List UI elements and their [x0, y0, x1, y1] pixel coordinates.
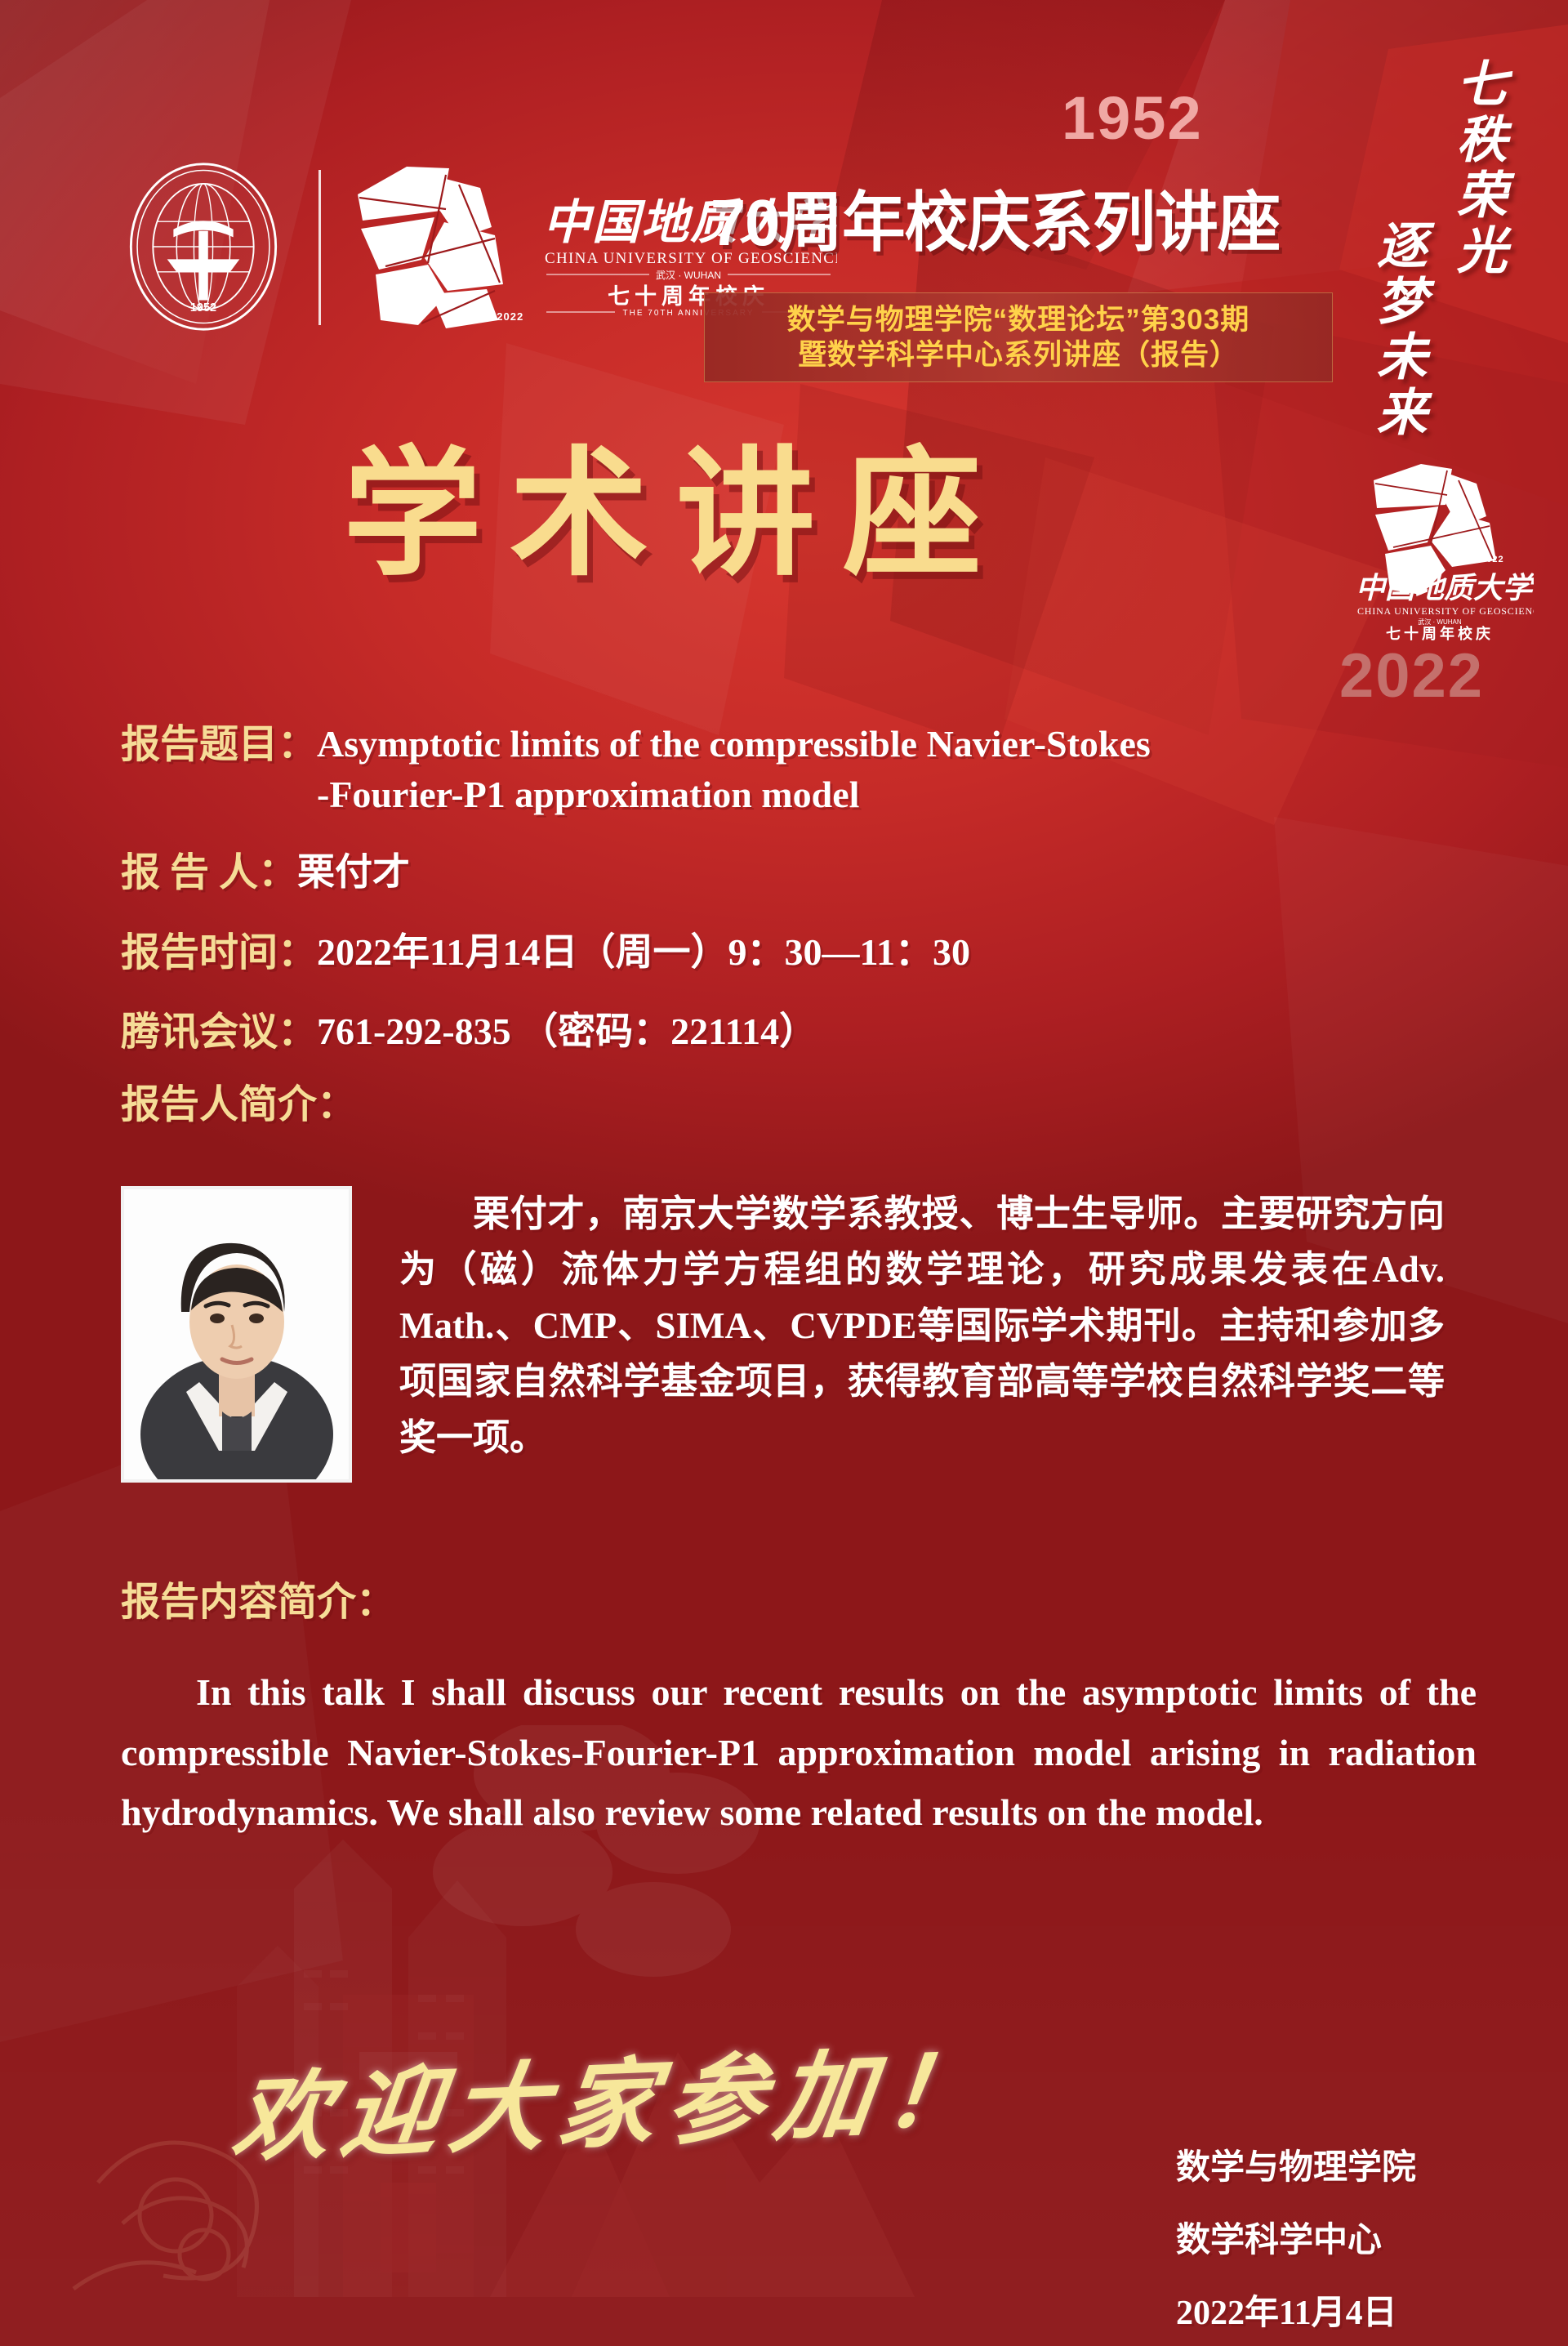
info-row-meeting: 腾讯会议： 761-292-835 （密码：221114） — [121, 1006, 1468, 1058]
year-current-label: 2022 — [1339, 645, 1484, 707]
info-row-title: 报告题目： Asymptotic limits of the compressi… — [121, 719, 1468, 819]
anniversary-origami-icon: 1952-2022 — [343, 160, 531, 333]
topic-value: Asymptotic limits of the compressible Na… — [317, 719, 1151, 819]
footer-line-3: 2022年11月4日 — [1176, 2277, 1416, 2346]
calligraphy-right-1: 七秩荣光 — [1447, 57, 1505, 279]
sub-banner: 数学与物理学院“数理论坛”第303期 暨数学科学中心系列讲座（报告） — [704, 292, 1333, 382]
spacer — [121, 906, 1468, 927]
page-title: 学术讲座 — [343, 445, 1009, 584]
wordmark-city-text: 武汉 · WUHAN — [656, 270, 721, 281]
sub-banner-line-1: 数学与物理学院“数理论坛”第303期 — [787, 302, 1249, 337]
svg-text:1952-2022: 1952-2022 — [465, 310, 523, 323]
svg-text:中国地质大学: 中国地质大学 — [1356, 572, 1534, 604]
meeting-value: 761-292-835 （密码：221114） — [317, 1006, 817, 1057]
topic-label: 报告题目： — [121, 719, 317, 770]
info-row-speaker: 报 告 人： 栗付才 — [121, 847, 1468, 899]
time-value: 2022年11月14日（周一）9：30—11：30 — [317, 927, 970, 978]
abstract-label: 报告内容简介： — [121, 1577, 395, 1628]
poster-footer: 数学与物理学院 数学科学中心 2022年11月4日 — [1176, 2132, 1416, 2346]
year-founded-label: 1952 — [1062, 88, 1203, 149]
anniversary-mini-mark-icon: 1952-2022 中国地质大学 CHINA UNIVERSITY OF GEO… — [1346, 457, 1534, 645]
speaker-photo — [121, 1186, 352, 1483]
speaker-bio-section: 栗付才，南京大学数学系教授、博士生导师。主要研究方向为（磁）流体力学方程组的数学… — [121, 1186, 1477, 1483]
topic-line-2: -Fourier-P1 approximation model — [317, 769, 1151, 820]
meeting-label: 腾讯会议： — [121, 1006, 317, 1058]
abstract-text: In this talk I shall discuss our recent … — [121, 1662, 1477, 1843]
series-title: 70周年校庆系列讲座 — [710, 190, 1280, 256]
footer-line-1: 数学与物理学院 — [1176, 2132, 1416, 2205]
calligraphy-right-2: 逐梦未来 — [1367, 219, 1425, 441]
speaker-bio-text: 栗付才，南京大学数学系教授、博士生导师。主要研究方向为（磁）流体力学方程组的数学… — [399, 1186, 1445, 1483]
spacer — [121, 826, 1468, 847]
info-row-bio-heading: 报告人简介： — [121, 1079, 1468, 1131]
time-label: 报告时间： — [121, 927, 317, 979]
crest-year: 1952 — [190, 301, 216, 314]
poster-header: 1952 1952-2022 — [0, 0, 1568, 425]
university-crest-icon: 1952 — [117, 160, 290, 333]
svg-text:CHINA UNIVERSITY OF GEOSCIENCE: CHINA UNIVERSITY OF GEOSCIENCES — [1357, 605, 1534, 617]
lecture-poster: 1952 1952-2022 — [0, 0, 1568, 2346]
speaker-label: 报 告 人： — [121, 847, 297, 899]
svg-text:武汉 · WUHAN: 武汉 · WUHAN — [1418, 618, 1462, 626]
svg-text:1952-2022: 1952-2022 — [1454, 555, 1504, 564]
lecture-info-block: 报告题目： Asymptotic limits of the compressi… — [121, 719, 1468, 1138]
topic-line-1: Asymptotic limits of the compressible Na… — [317, 723, 1151, 765]
spacer — [121, 985, 1468, 1006]
welcome-message: 欢迎大家参加！ — [226, 2011, 1001, 2179]
svg-text:七十周年校庆: 七十周年校庆 — [1386, 625, 1494, 642]
bio-label: 报告人简介： — [121, 1079, 356, 1131]
speaker-value: 栗付才 — [297, 847, 410, 898]
sub-banner-line-2: 暨数学科学中心系列讲座（报告） — [798, 337, 1239, 372]
info-row-time: 报告时间： 2022年11月14日（周一）9：30—11：30 — [121, 927, 1468, 979]
header-divider — [318, 170, 321, 325]
footer-line-2: 数学科学中心 — [1176, 2205, 1416, 2277]
